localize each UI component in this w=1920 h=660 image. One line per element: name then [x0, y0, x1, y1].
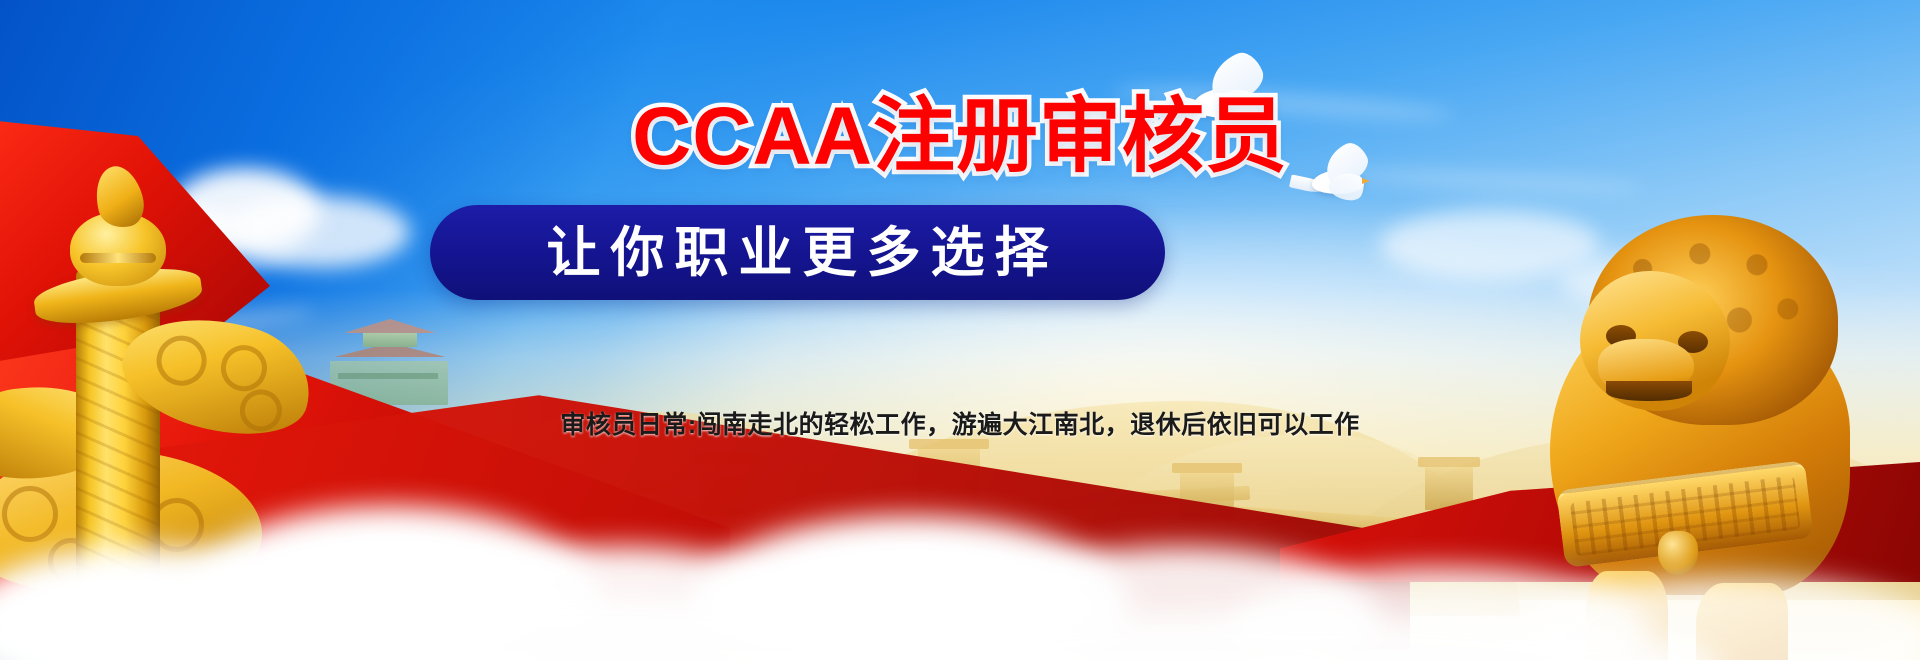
banner-content: CCAA注册审核员 让你职业更多选择 审核员日常:闯南走北的轻松工作，游遍大江南…	[0, 0, 1920, 660]
tagline-pill: 让你职业更多选择	[430, 205, 1165, 300]
promotional-banner: CCAA注册审核员 让你职业更多选择 审核员日常:闯南走北的轻松工作，游遍大江南…	[0, 0, 1920, 660]
subtitle-text: 审核员日常:闯南走北的轻松工作，游遍大江南北，退休后依旧可以工作	[0, 405, 1920, 441]
page-title: CCAA注册审核员	[0, 96, 1920, 178]
tagline-text: 让你职业更多选择	[537, 226, 1059, 280]
